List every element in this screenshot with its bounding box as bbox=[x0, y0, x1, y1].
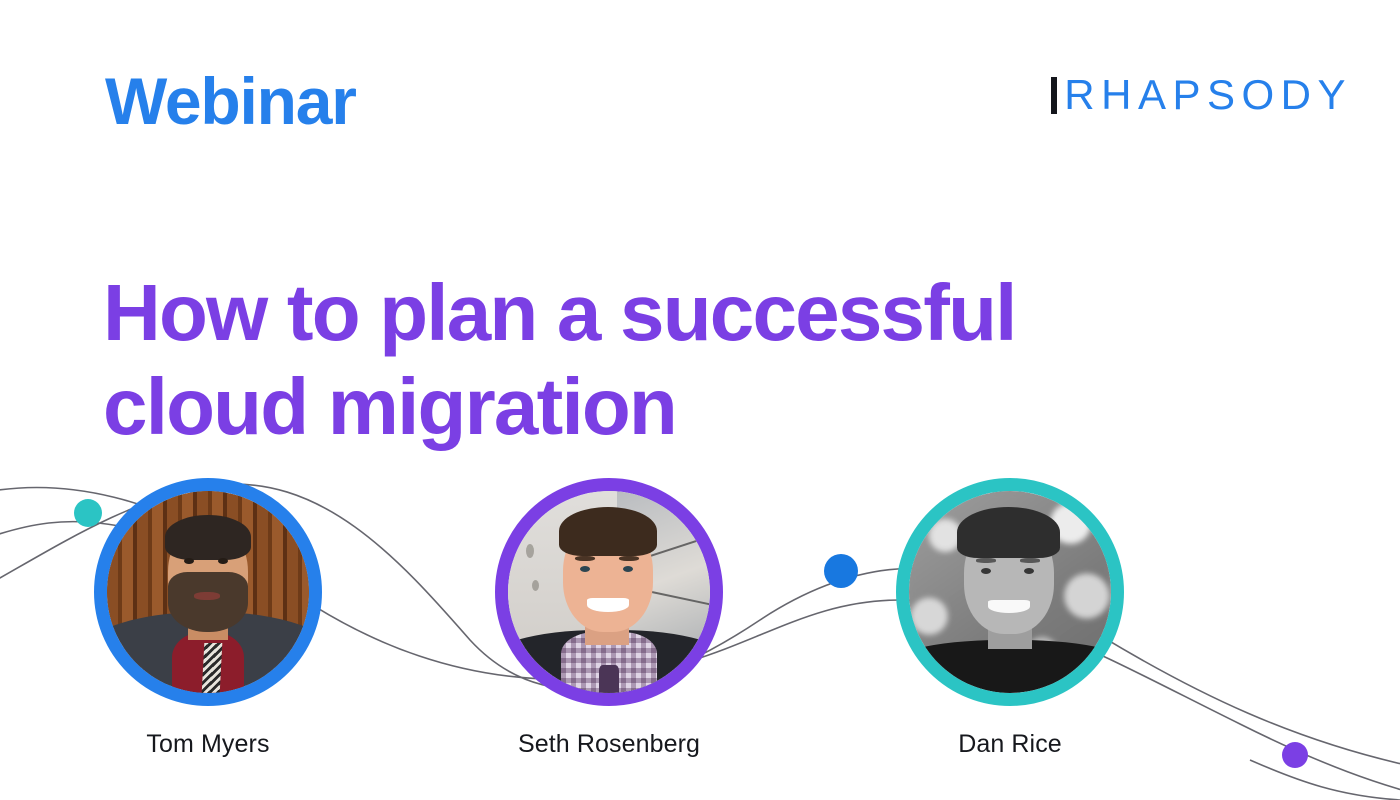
avatar-photo-dan-rice bbox=[909, 491, 1111, 693]
page-title: How to plan a successful cloud migration bbox=[103, 266, 1016, 455]
speaker-card-dan-rice: Dan Rice bbox=[880, 478, 1140, 759]
headline-line-2: cloud migration bbox=[103, 360, 1016, 454]
rhapsody-logo: RHAPSODY bbox=[1051, 72, 1352, 118]
avatar-photo-seth-rosenberg bbox=[508, 491, 710, 693]
speaker-name: Seth Rosenberg bbox=[479, 730, 739, 759]
node-purple-icon bbox=[1282, 742, 1308, 768]
eyebrow-label: Webinar bbox=[105, 68, 356, 134]
headline-line-1: How to plan a successful bbox=[103, 266, 1016, 360]
avatar-photo-tom-myers bbox=[107, 491, 309, 693]
speaker-name: Dan Rice bbox=[880, 730, 1140, 759]
speaker-name: Tom Myers bbox=[78, 730, 338, 759]
logo-wordmark: RHAPSODY bbox=[1064, 74, 1352, 116]
avatar bbox=[495, 478, 723, 706]
logo-bar-icon bbox=[1051, 77, 1057, 114]
curve-tail-right bbox=[1250, 760, 1400, 800]
speaker-card-tom-myers: Tom Myers bbox=[78, 478, 338, 759]
avatar bbox=[94, 478, 322, 706]
avatar bbox=[896, 478, 1124, 706]
speaker-card-seth-rosenberg: Seth Rosenberg bbox=[479, 478, 739, 759]
node-blue-icon bbox=[824, 554, 858, 588]
